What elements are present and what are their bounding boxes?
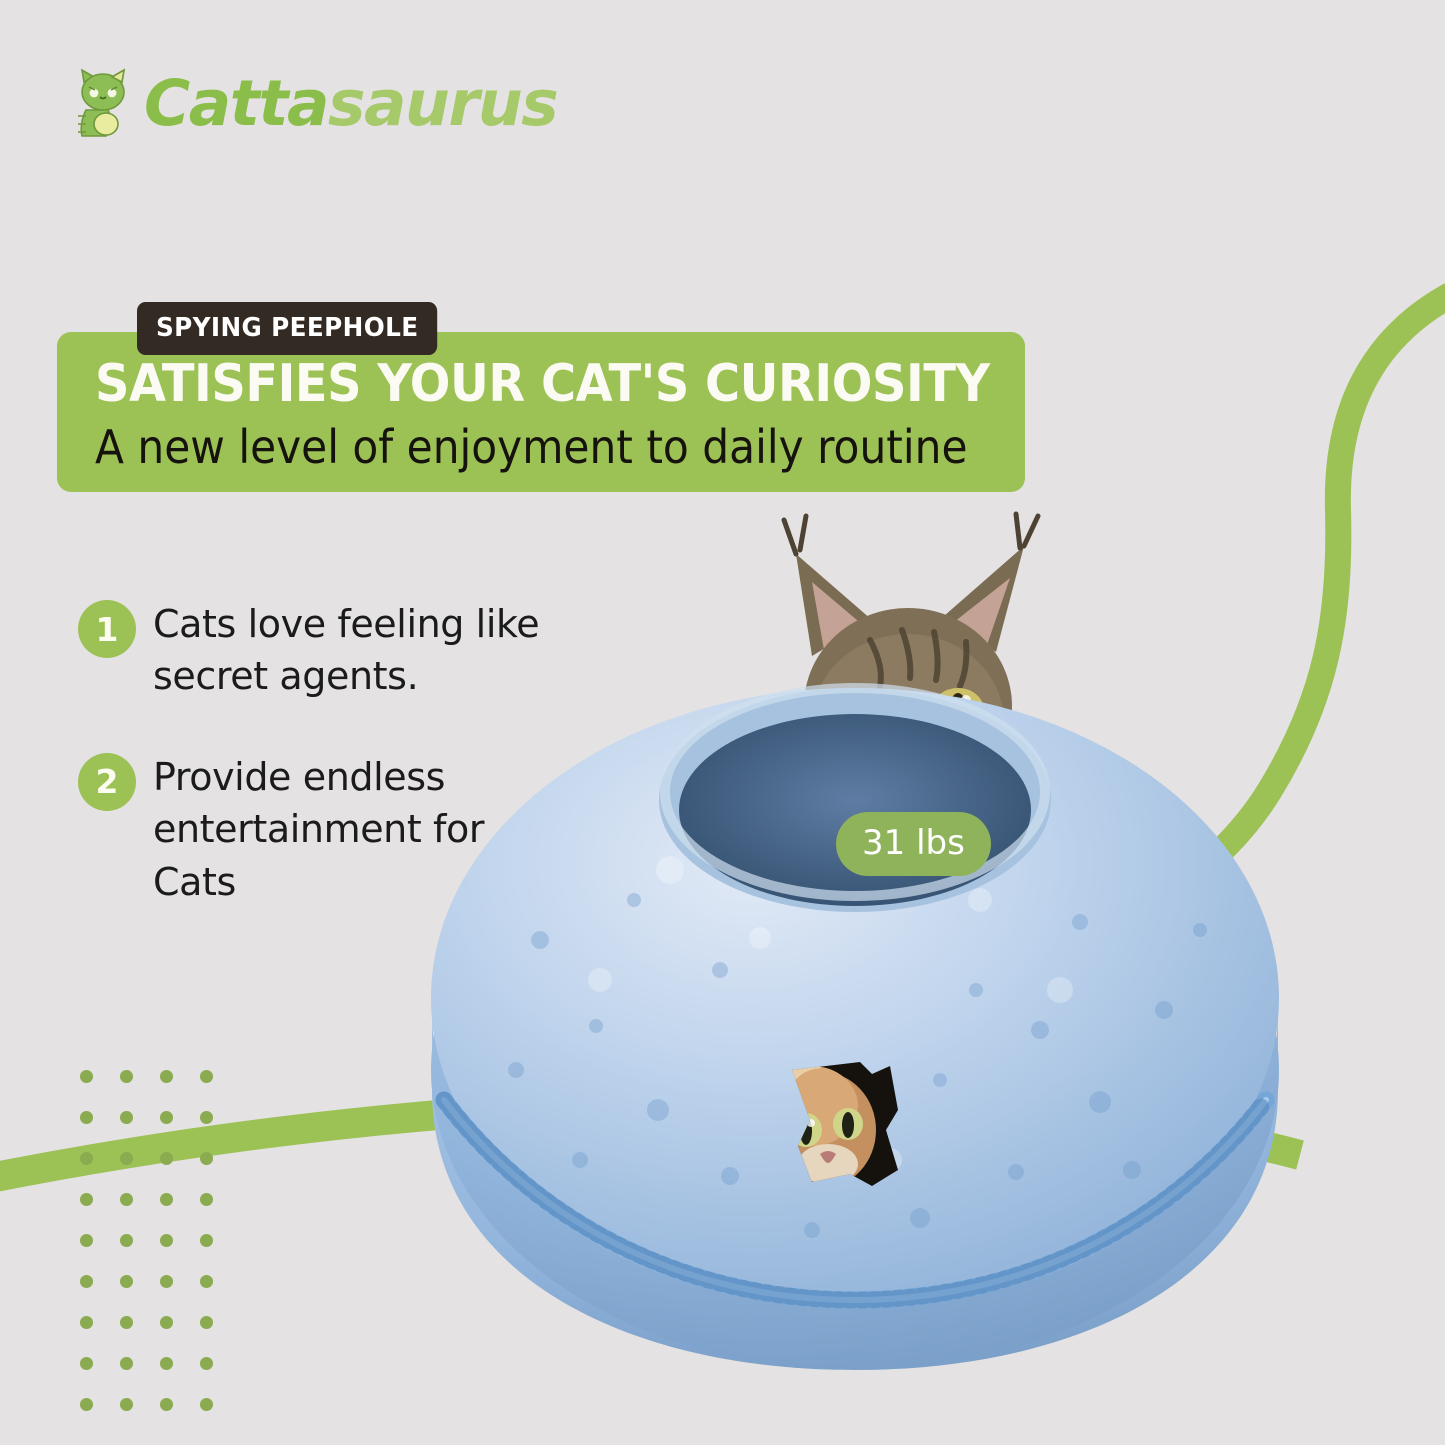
dot-grid-dot bbox=[160, 1234, 173, 1247]
dot-grid-dot bbox=[120, 1152, 133, 1165]
dot-grid-row bbox=[80, 1098, 238, 1137]
infographic-canvas: Cattasaurus SATISFIES YOUR CAT'S CURIOSI… bbox=[0, 0, 1445, 1445]
dot-grid-decoration bbox=[78, 1055, 240, 1426]
dot-grid-dot bbox=[80, 1275, 93, 1288]
dot-grid-row bbox=[80, 1180, 238, 1219]
status-badge: SPYING PEEPHOLE bbox=[137, 302, 437, 355]
banner-title: SATISFIES YOUR CAT'S CURIOSITY bbox=[95, 358, 990, 410]
product-photo bbox=[420, 470, 1290, 1400]
dot-grid-dot bbox=[160, 1111, 173, 1124]
dot-grid-dot bbox=[120, 1193, 133, 1206]
dot-grid-dot bbox=[200, 1234, 213, 1247]
donut-cat-bed bbox=[431, 688, 1279, 1370]
dot-grid-dot bbox=[120, 1398, 133, 1411]
dot-grid-dot bbox=[120, 1234, 133, 1247]
feature-number: 2 bbox=[78, 753, 136, 811]
headline-banner: SATISFIES YOUR CAT'S CURIOSITY A new lev… bbox=[57, 332, 1025, 492]
weight-badge: 31 lbs bbox=[836, 812, 991, 876]
feature-number: 1 bbox=[78, 600, 136, 658]
cat-bed-illustration bbox=[420, 470, 1290, 1400]
dot-grid-row bbox=[80, 1139, 238, 1178]
dot-grid-dot bbox=[80, 1152, 93, 1165]
dot-grid-dot bbox=[120, 1070, 133, 1083]
dot-grid-dot bbox=[160, 1152, 173, 1165]
banner-subtitle: A new level of enjoyment to daily routin… bbox=[95, 424, 967, 470]
dot-grid-row bbox=[80, 1344, 238, 1383]
dot-grid-dot bbox=[80, 1234, 93, 1247]
dot-grid-dot bbox=[80, 1193, 93, 1206]
dot-grid-dot bbox=[80, 1316, 93, 1329]
dot-grid-row bbox=[80, 1221, 238, 1260]
dot-grid-row bbox=[80, 1385, 238, 1424]
brand-wordmark-bold: Catta bbox=[144, 67, 328, 140]
dot-grid-dot bbox=[200, 1070, 213, 1083]
dot-grid-row bbox=[80, 1303, 238, 1342]
brand-logo: Cattasaurus bbox=[72, 66, 557, 140]
dot-grid-dot bbox=[160, 1316, 173, 1329]
dot-grid-dot bbox=[200, 1316, 213, 1329]
dot-grid-dot bbox=[200, 1152, 213, 1165]
dot-grid-dot bbox=[160, 1357, 173, 1370]
dot-grid-dot bbox=[160, 1193, 173, 1206]
dot-grid-dot bbox=[80, 1111, 93, 1124]
dot-grid-dot bbox=[120, 1275, 133, 1288]
dot-grid-dot bbox=[120, 1111, 133, 1124]
dot-grid-dot bbox=[200, 1398, 213, 1411]
cat-mascot-icon bbox=[72, 66, 134, 140]
dot-grid-dot bbox=[80, 1070, 93, 1083]
dot-grid-dot bbox=[120, 1357, 133, 1370]
dot-grid-dot bbox=[80, 1398, 93, 1411]
brand-wordmark-light: saurus bbox=[328, 67, 557, 140]
dot-grid-dot bbox=[120, 1316, 133, 1329]
dot-grid-dot bbox=[160, 1070, 173, 1083]
dot-grid-dot bbox=[200, 1111, 213, 1124]
brand-wordmark: Cattasaurus bbox=[144, 72, 557, 135]
dot-grid-dot bbox=[160, 1275, 173, 1288]
dot-grid-row bbox=[80, 1057, 238, 1096]
dot-grid-dot bbox=[80, 1357, 93, 1370]
dot-grid-row bbox=[80, 1262, 238, 1301]
dot-grid-dot bbox=[200, 1193, 213, 1206]
dot-grid-dot bbox=[200, 1275, 213, 1288]
dot-grid-dot bbox=[160, 1398, 173, 1411]
dot-grid-dot bbox=[200, 1357, 213, 1370]
